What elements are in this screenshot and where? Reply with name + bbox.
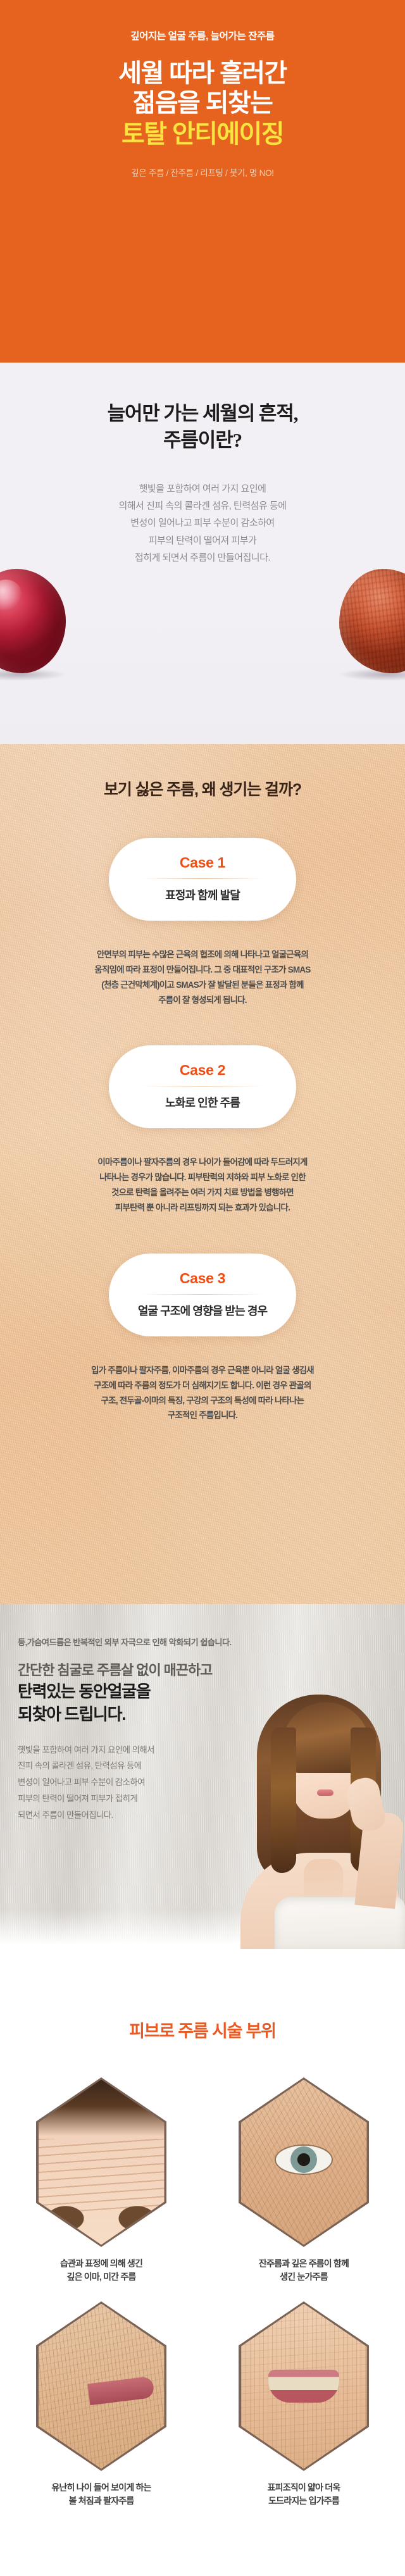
area-2-caption-line-1: 잔주름과 깊은 주름이 함께 (209, 2257, 399, 2270)
case-2-body-line-3: 것으로 탄력을 올려주는 여러 가지 치료 방법을 병행하면 (10, 1185, 395, 1200)
fresh-apple-image (0, 569, 66, 673)
area-3-caption: 유난히 나이 들어 보이게 하는 볼 처짐과 팔자주름 (6, 2481, 196, 2508)
area-2-caption-line-2: 생긴 눈가주름 (209, 2270, 399, 2284)
hero-title: 세월 따라 흘러간 젊음을 되찾는 토탈 안티에이징 (118, 59, 286, 149)
case-1-body-line-4: 주름이 잘 형성되게 됩니다. (10, 993, 395, 1008)
case-1-body-line-3: (천층 근건막체계)이고 SMAS가 잘 발달된 분들은 표정과 함께 (10, 978, 395, 993)
area-4-hex-frame (239, 2301, 369, 2471)
area-1-caption-line-1: 습관과 표정에 의해 생긴 (6, 2257, 196, 2270)
apple-body-line-5: 접히게 되면서 주름이 만들어집니다. (0, 549, 405, 566)
metal-claim-bold-1: 탄력있는 동안얼굴을 (18, 1681, 405, 1702)
forehead-wrinkles-photo (39, 2080, 165, 2245)
hero-title-line-2: 젊음을 되찾는 (118, 89, 286, 118)
case-1-body-line-2: 움직임에 따라 표정이 만들어집니다. 그 중 대표적인 구조가 SMAS (10, 962, 395, 978)
area-2-caption: 잔주름과 깊은 주름이 함께 생긴 눈가주름 (209, 2257, 399, 2284)
metal-claim: 간단한 침굴로 주름살 없이 매끈하고 탄력있는 동안얼굴을 되찾아 드립니다. (18, 1662, 405, 1726)
case-1-subtitle: 표정과 함께 발달 (121, 887, 283, 903)
case-1-divider (140, 878, 265, 879)
area-4-caption-line-1: 표피조직이 얇아 더욱 (209, 2481, 399, 2494)
areas-grid: 습관과 표정에 의해 생긴 깊은 이마, 미간 주름 잔주름과 깊은 주름이 함… (0, 2077, 405, 2508)
apple-body-line-2: 의해서 진피 속의 콜라겐 섬유, 탄력섬유 등에 (0, 497, 405, 514)
metal-kicker: 등,가슴여드름은 반복적인 외부 자극으로 인해 악화되기 쉽습니다. (18, 1636, 405, 1648)
metal-claim-light: 간단한 침굴로 주름살 없이 매끈하고 (18, 1662, 405, 1679)
case-card-3: Case 3 얼굴 구조에 영향을 받는 경우 (109, 1254, 296, 1336)
area-1-caption: 습관과 표정에 의해 생긴 깊은 이마, 미간 주름 (6, 2257, 196, 2284)
metal-body-line-2: 진피 속의 콜라겐 섬유, 탄력섬유 등에 (18, 1758, 405, 1774)
area-item-2: 잔주름과 깊은 주름이 함께 생긴 눈가주름 (209, 2077, 399, 2284)
metal-body-line-5: 되면서 주름이 만들어집니다. (18, 1807, 405, 1824)
metal-body: 햇빛을 포함하여 여러 가지 요인에 의해서 진피 속의 콜라겐 섬유, 탄력섬… (18, 1742, 405, 1824)
hero-title-line-1: 세월 따라 흘러간 (118, 59, 286, 89)
apple-body-line-3: 변성이 일어나고 피부 수분이 감소하여 (0, 514, 405, 532)
case-1-label: Case 1 (121, 854, 283, 871)
area-3-caption-line-2: 볼 처짐과 팔자주름 (6, 2494, 196, 2508)
hero-kicker: 깊어지는 얼굴 주름, 늘어가는 잔주름 (130, 28, 274, 42)
case-2-body-line-1: 이마주름이나 팔자주름의 경우 나이가 들어감에 따라 두드러지게 (10, 1155, 395, 1170)
area-item-3: 유난히 나이 들어 보이게 하는 볼 처짐과 팔자주름 (6, 2301, 196, 2508)
treatment-areas-section: 피브로 주름 시술 부위 습관과 표정에 의해 생긴 깊은 이마, 미간 주름 … (0, 1949, 405, 2576)
apple-body-line-1: 햇빛을 포함하여 여러 가지 요인에 (0, 480, 405, 497)
landing-page: 깊어지는 얼굴 주름, 늘어가는 잔주름 세월 따라 흘러간 젊음을 되찾는 토… (0, 0, 405, 2576)
case-2-subtitle: 노화로 인한 주름 (121, 1094, 283, 1111)
case-3-label: Case 3 (121, 1270, 283, 1287)
wrinkle-causes-section: 보기 싫은 주름, 왜 생기는 걸까? Case 1 표정과 함께 발달 안면부… (0, 744, 405, 1604)
area-4-caption: 표피조직이 얇아 더욱 도드라지는 입가주름 (209, 2481, 399, 2508)
aged-eye-wrinkles-photo (241, 2080, 367, 2245)
areas-title: 피브로 주름 시술 부위 (0, 2017, 405, 2042)
hero-section: 깊어지는 얼굴 주름, 늘어가는 잔주름 세월 따라 흘러간 젊음을 되찾는 토… (0, 0, 405, 363)
area-item-4: 표피조직이 얇아 더욱 도드라지는 입가주름 (209, 2301, 399, 2508)
area-1-hex-frame (36, 2077, 166, 2247)
case-3-body-line-1: 입가 주름이나 팔자주름, 이마주름의 경우 근육뿐 아니라 얼굴 생김새 (10, 1363, 395, 1378)
metal-body-line-4: 피부의 탄력이 떨어져 피부가 접히게 (18, 1791, 405, 1807)
case-3-body-line-4: 구조적인 주름입니다. (10, 1408, 395, 1423)
case-2-label: Case 2 (121, 1062, 283, 1079)
wrinkled-apple-image (339, 569, 405, 673)
case-3-body: 입가 주름이나 팔자주름, 이마주름의 경우 근육뿐 아니라 얼굴 생김새 구조… (0, 1363, 405, 1423)
case-3-subtitle: 얼굴 구조에 영향을 받는 경우 (121, 1302, 283, 1319)
case-3-body-line-3: 구조, 전두골-이마의 특징, 구강의 구조의 특성에 따라 나타나는 (10, 1393, 395, 1409)
metal-body-line-3: 변성이 일어나고 피부 수분이 감소하여 (18, 1774, 405, 1791)
case-card-2: Case 2 노화로 인한 주름 (109, 1045, 296, 1128)
case-2-divider (140, 1086, 265, 1086)
cheek-nasolabial-wrinkles-photo (39, 2304, 165, 2469)
case-1-body-line-1: 안면부의 피부는 수많은 근육의 협조에 의해 나타나고 얼굴근육의 (10, 947, 395, 962)
case-2-body-line-2: 나타나는 경우가 많습니다. 피부탄력의 저하와 피부 노화로 인한 (10, 1170, 395, 1185)
area-3-hex-frame (36, 2301, 166, 2471)
apple-body-line-4: 피부의 탄력이 떨어져 피부가 (0, 532, 405, 549)
case-2-body: 이마주름이나 팔자주름의 경우 나이가 들어감에 따라 두드러지게 나타나는 경… (0, 1155, 405, 1215)
hero-title-line-3: 토탈 안티에이징 (118, 120, 286, 149)
area-4-caption-line-2: 도드라지는 입가주름 (209, 2494, 399, 2508)
mouth-wrinkles-photo (241, 2304, 367, 2469)
area-1-caption-line-2: 깊은 이마, 미간 주름 (6, 2270, 196, 2284)
apple-heading-line-1: 늘어만 가는 세월의 흔적, (0, 401, 405, 427)
hero-tagline: 깊은 주름 / 잔주름 / 리프팅 / 붓기, 멍 NO! (131, 166, 274, 178)
wrinkle-definition-section: 늘어만 가는 세월의 흔적, 주름이란? 햇빛을 포함하여 여러 가지 요인에 … (0, 363, 405, 744)
metal-body-line-1: 햇빛을 포함하여 여러 가지 요인에 의해서 (18, 1742, 405, 1758)
cases-section-heading: 보기 싫은 주름, 왜 생기는 걸까? (0, 777, 405, 800)
apple-heading-line-2: 주름이란? (0, 427, 405, 454)
case-1-body: 안면부의 피부는 수많은 근육의 협조에 의해 나타나고 얼굴근육의 움직임에 … (0, 947, 405, 1007)
case-card-1: Case 1 표정과 함께 발달 (109, 838, 296, 921)
case-3-body-line-2: 구조에 따라 주름의 정도가 더 심해지기도 합니다. 이런 경우 관골의 (10, 1378, 395, 1393)
area-item-1: 습관과 표정에 의해 생긴 깊은 이마, 미간 주름 (6, 2077, 196, 2284)
area-3-caption-line-1: 유난히 나이 들어 보이게 하는 (6, 2481, 196, 2494)
case-3-divider (140, 1294, 265, 1295)
case-2-body-line-4: 피부탄력 뿐 아니라 리프팅까지 되는 효과가 있습니다. (10, 1200, 395, 1216)
apple-section-body: 햇빛을 포함하여 여러 가지 요인에 의해서 진피 속의 콜라겐 섬유, 탄력섬… (0, 480, 405, 566)
metal-claim-bold-2: 되찾아 드립니다. (18, 1704, 405, 1725)
treatment-promise-section: 등,가슴여드름은 반복적인 외부 자극으로 인해 악화되기 쉽습니다. 간단한 … (0, 1604, 405, 1949)
apple-section-heading: 늘어만 가는 세월의 흔적, 주름이란? (0, 401, 405, 454)
area-2-hex-frame (239, 2077, 369, 2247)
